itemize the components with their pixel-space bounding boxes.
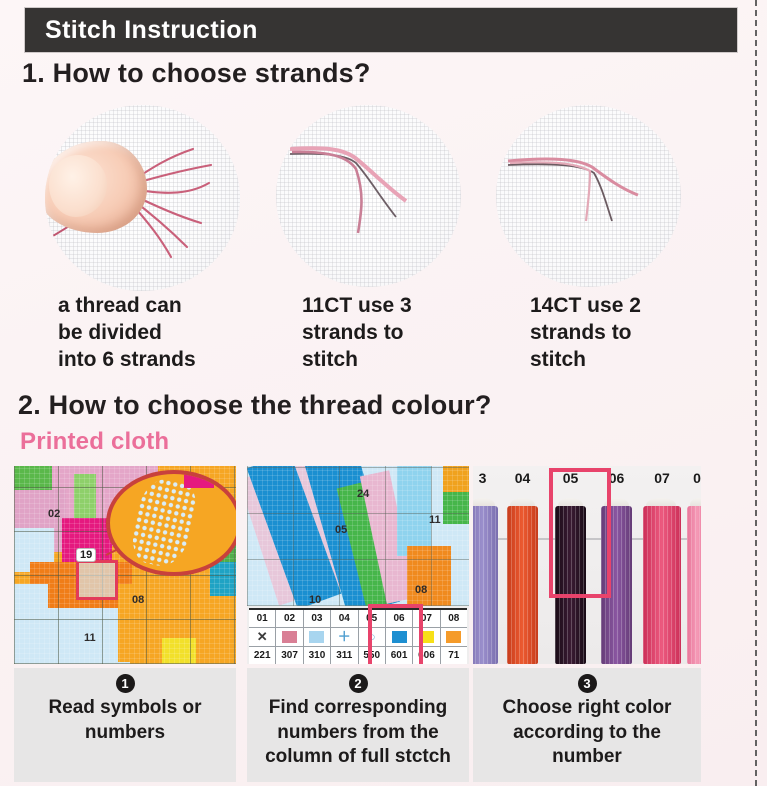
caption-box-step-2: 2 Find corresponding numbers from the co…: [247, 668, 469, 782]
legend-code-03: 310: [304, 647, 330, 664]
legend-number-03: 03: [304, 610, 330, 628]
caption-11ct: 11CT use 3 strands to stitch: [302, 293, 412, 374]
skein-body-08: [687, 506, 701, 664]
caption-box-step-1: 1 Read symbols or numbers: [14, 668, 236, 782]
legend-column-03[interactable]: 03 310: [304, 610, 331, 664]
legend-number-05: 05: [359, 610, 385, 628]
legend-column-08[interactable]: 08 71: [441, 610, 467, 664]
step-badge-1: 1: [116, 674, 135, 693]
grid-label-19: 19: [76, 548, 96, 562]
legend-column-01[interactable]: 01 ✕ 221: [249, 610, 276, 664]
chart-label-05: 05: [335, 524, 347, 536]
legend-symbol-01: ✕: [249, 628, 275, 646]
skein-06[interactable]: 06: [601, 492, 632, 664]
legend-code-06: 601: [386, 647, 412, 664]
grid-label-02: 02: [48, 508, 60, 520]
skein-label-03: 3: [473, 470, 498, 486]
caption-thread-divided: a thread can be divided into 6 strands: [58, 293, 196, 374]
legend-code-05: 550: [359, 647, 385, 664]
caption-box-step-3: 3 Choose right color according to the nu…: [473, 668, 701, 782]
legend-column-02[interactable]: 02 307: [276, 610, 303, 664]
legend-symbol-05: ○: [359, 628, 385, 646]
thumb-photo: [45, 141, 147, 233]
caption-step-2: Find corresponding numbers from the colu…: [261, 696, 455, 770]
panel-pattern-with-legend: 24 05 11 08 10 01 ✕ 221 02 307 03: [247, 466, 469, 664]
legend-column-04[interactable]: 04 ＋ 311: [331, 610, 358, 664]
legend-column-06[interactable]: 06 601: [386, 610, 413, 664]
illustration-14ct-two-strands: [496, 105, 681, 287]
caption-step-3: Choose right color according to the numb…: [499, 696, 676, 770]
skein-body-03: [473, 506, 498, 664]
legend-symbol-06: [386, 628, 412, 646]
legend-symbol-08: [441, 628, 467, 646]
section-1-heading: 1. How to choose strands?: [22, 58, 371, 89]
legend-code-04: 311: [331, 647, 357, 664]
skein-label-04: 04: [507, 470, 538, 486]
title-bar: Stitch Instruction: [25, 8, 737, 52]
legend-symbol-02: [276, 628, 302, 646]
colour-legend-table[interactable]: 01 ✕ 221 02 307 03 310 04 ＋ 311: [249, 608, 467, 664]
chart-label-08: 08: [415, 584, 427, 596]
skein-label-08: 0: [687, 470, 701, 486]
thumbnail-nail: [49, 155, 107, 217]
legend-symbol-07: [413, 628, 439, 646]
skein-body-07: [643, 506, 681, 664]
skein-03[interactable]: 3: [473, 492, 498, 664]
grid-label-08: 08: [132, 594, 144, 606]
legend-column-05[interactable]: 05 ○ 550: [359, 610, 386, 664]
chart-label-11: 11: [429, 514, 441, 526]
legend-code-08: 71: [441, 647, 467, 664]
chart-label-10: 10: [309, 594, 321, 606]
legend-number-04: 04: [331, 610, 357, 628]
illustration-thumb-separating-threads: [45, 105, 240, 291]
legend-symbol-03: [304, 628, 330, 646]
magnified-stitch-band: [128, 475, 201, 571]
skein-08[interactable]: 0: [687, 492, 701, 664]
skein-body-06: [601, 506, 632, 664]
skein-body-05: [555, 506, 586, 664]
section-2-heading: 2. How to choose the thread colour?: [18, 390, 492, 421]
step-badge-3: 3: [578, 674, 597, 693]
legend-number-08: 08: [441, 610, 467, 628]
grid-label-11: 11: [84, 632, 96, 644]
skein-row: 3 04 05 06: [473, 492, 701, 664]
strand-illustrations: [0, 105, 767, 295]
two-strand-thread-icon: [496, 105, 681, 287]
legend-code-01: 221: [249, 647, 275, 664]
legend-number-02: 02: [276, 610, 302, 628]
magnifier-source-box: [76, 560, 118, 600]
skein-label-05: 05: [555, 470, 586, 486]
magnified-magenta: [184, 474, 214, 488]
skein-body-04: [507, 506, 538, 664]
legend-symbol-04: ＋: [331, 628, 357, 646]
printed-cloth-label: Printed cloth: [20, 428, 169, 456]
chart-gridlines: [247, 466, 469, 606]
chart-label-24: 24: [357, 488, 369, 500]
skein-05[interactable]: 05: [555, 492, 586, 664]
caption-14ct: 14CT use 2 strands to stitch: [530, 293, 641, 374]
pattern-chart-blue: 24 05 11 08 10: [247, 466, 469, 606]
panel-printed-pattern: 02 08 11 19: [14, 466, 236, 664]
skein-label-06: 06: [601, 470, 632, 486]
magnifier-circle: [106, 470, 236, 576]
three-strand-thread-icon: [276, 105, 461, 287]
skein-04[interactable]: 04: [507, 492, 538, 664]
caption-step-1: Read symbols or numbers: [44, 696, 205, 745]
skein-label-07: 07: [643, 470, 681, 486]
legend-number-06: 06: [386, 610, 412, 628]
colour-selection-panels: 02 08 11 19: [0, 466, 767, 666]
legend-code-02: 307: [276, 647, 302, 664]
legend-column-07[interactable]: 07 606: [413, 610, 440, 664]
strand-captions: a thread can be divided into 6 strands 1…: [0, 293, 767, 375]
legend-number-07: 07: [413, 610, 439, 628]
skein-07[interactable]: 07: [643, 492, 681, 664]
colour-selection-captions: 1 Read symbols or numbers 2 Find corresp…: [0, 668, 767, 786]
legend-number-01: 01: [249, 610, 275, 628]
step-badge-2: 2: [349, 674, 368, 693]
instruction-sheet: Stitch Instruction 1. How to choose stra…: [0, 0, 767, 786]
page-title: Stitch Instruction: [25, 16, 258, 45]
illustration-11ct-three-strands: [276, 105, 461, 287]
legend-code-07: 606: [413, 647, 439, 664]
panel-thread-skeins: 3 04 05 06: [473, 466, 701, 664]
